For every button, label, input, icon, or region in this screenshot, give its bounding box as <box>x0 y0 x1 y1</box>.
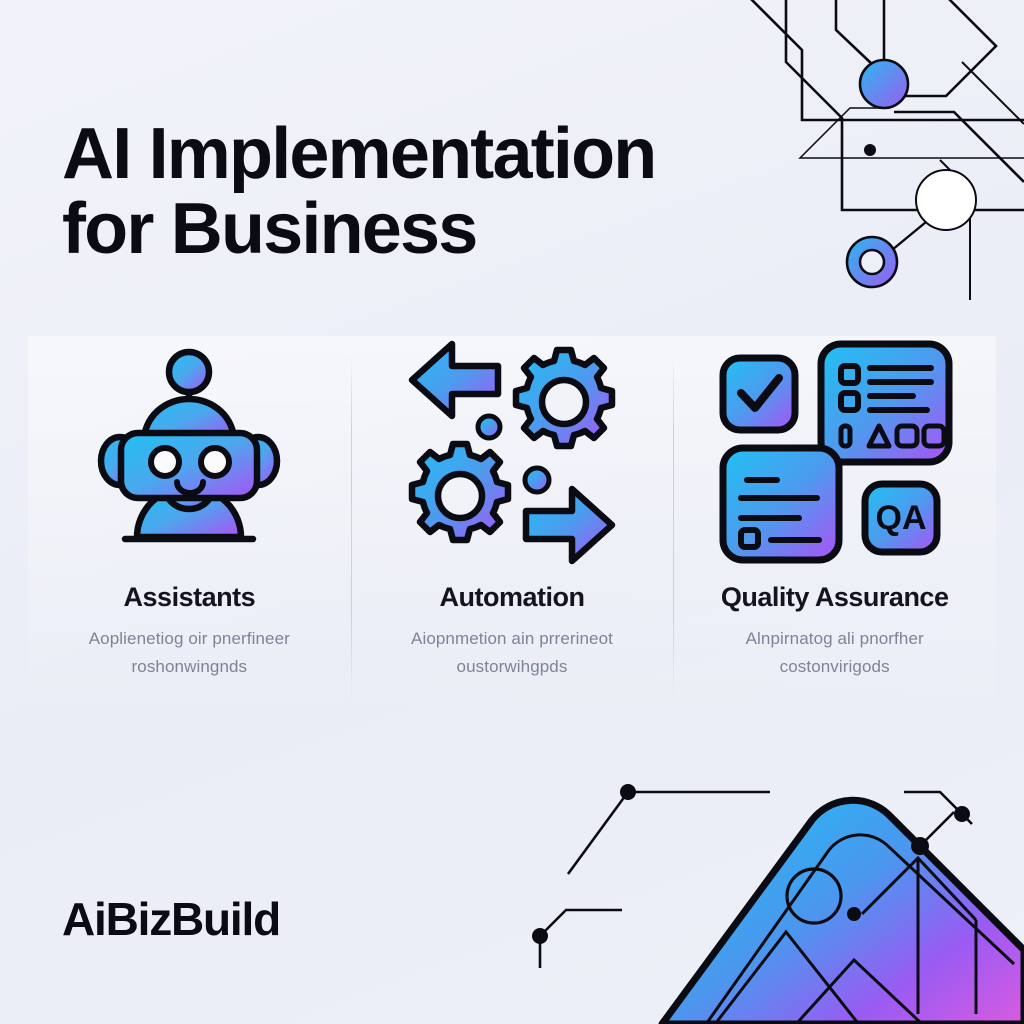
poster-canvas: AI Implementation for Business <box>0 0 1024 1024</box>
feature-card-body: Aoplienetiog oir pnerfineer roshonwingnd… <box>64 625 314 680</box>
feature-card-body: Aiopnmetion ain prrerineot oustorwihgpds <box>387 625 637 680</box>
feature-card-title: Quality Assurance <box>721 582 949 613</box>
feature-card-automation[interactable]: Automation Aiopnmetion ain prrerineot ou… <box>351 336 674 728</box>
feature-card-title: Assistants <box>124 582 256 613</box>
page-title-line-1: AI Implementation <box>62 117 862 192</box>
feature-card-title: Automation <box>440 582 585 613</box>
page-title: AI Implementation for Business <box>62 117 862 267</box>
feature-card-quality-assurance[interactable]: QA Quality Assurance Alnpirnatog ali pno… <box>673 336 996 728</box>
feature-card-assistants[interactable]: Assistants Aoplienetiog oir pnerfineer r… <box>28 336 351 728</box>
gears-arrows-automation-icon <box>398 336 626 570</box>
quality-assurance-panels-icon: QA <box>715 336 955 570</box>
feature-card-row: Assistants Aoplienetiog oir pnerfineer r… <box>28 336 996 728</box>
feature-card-body: Alnpirnatog ali pnorfher costonvirigods <box>710 625 960 680</box>
robot-assistant-icon <box>89 336 289 570</box>
page-title-line-2: for Business <box>62 192 862 267</box>
qa-badge-label: QA <box>875 499 926 537</box>
circuit-decoration-bottom-right <box>524 754 1024 1024</box>
brand-wordmark: AiBizBuild <box>62 892 280 946</box>
